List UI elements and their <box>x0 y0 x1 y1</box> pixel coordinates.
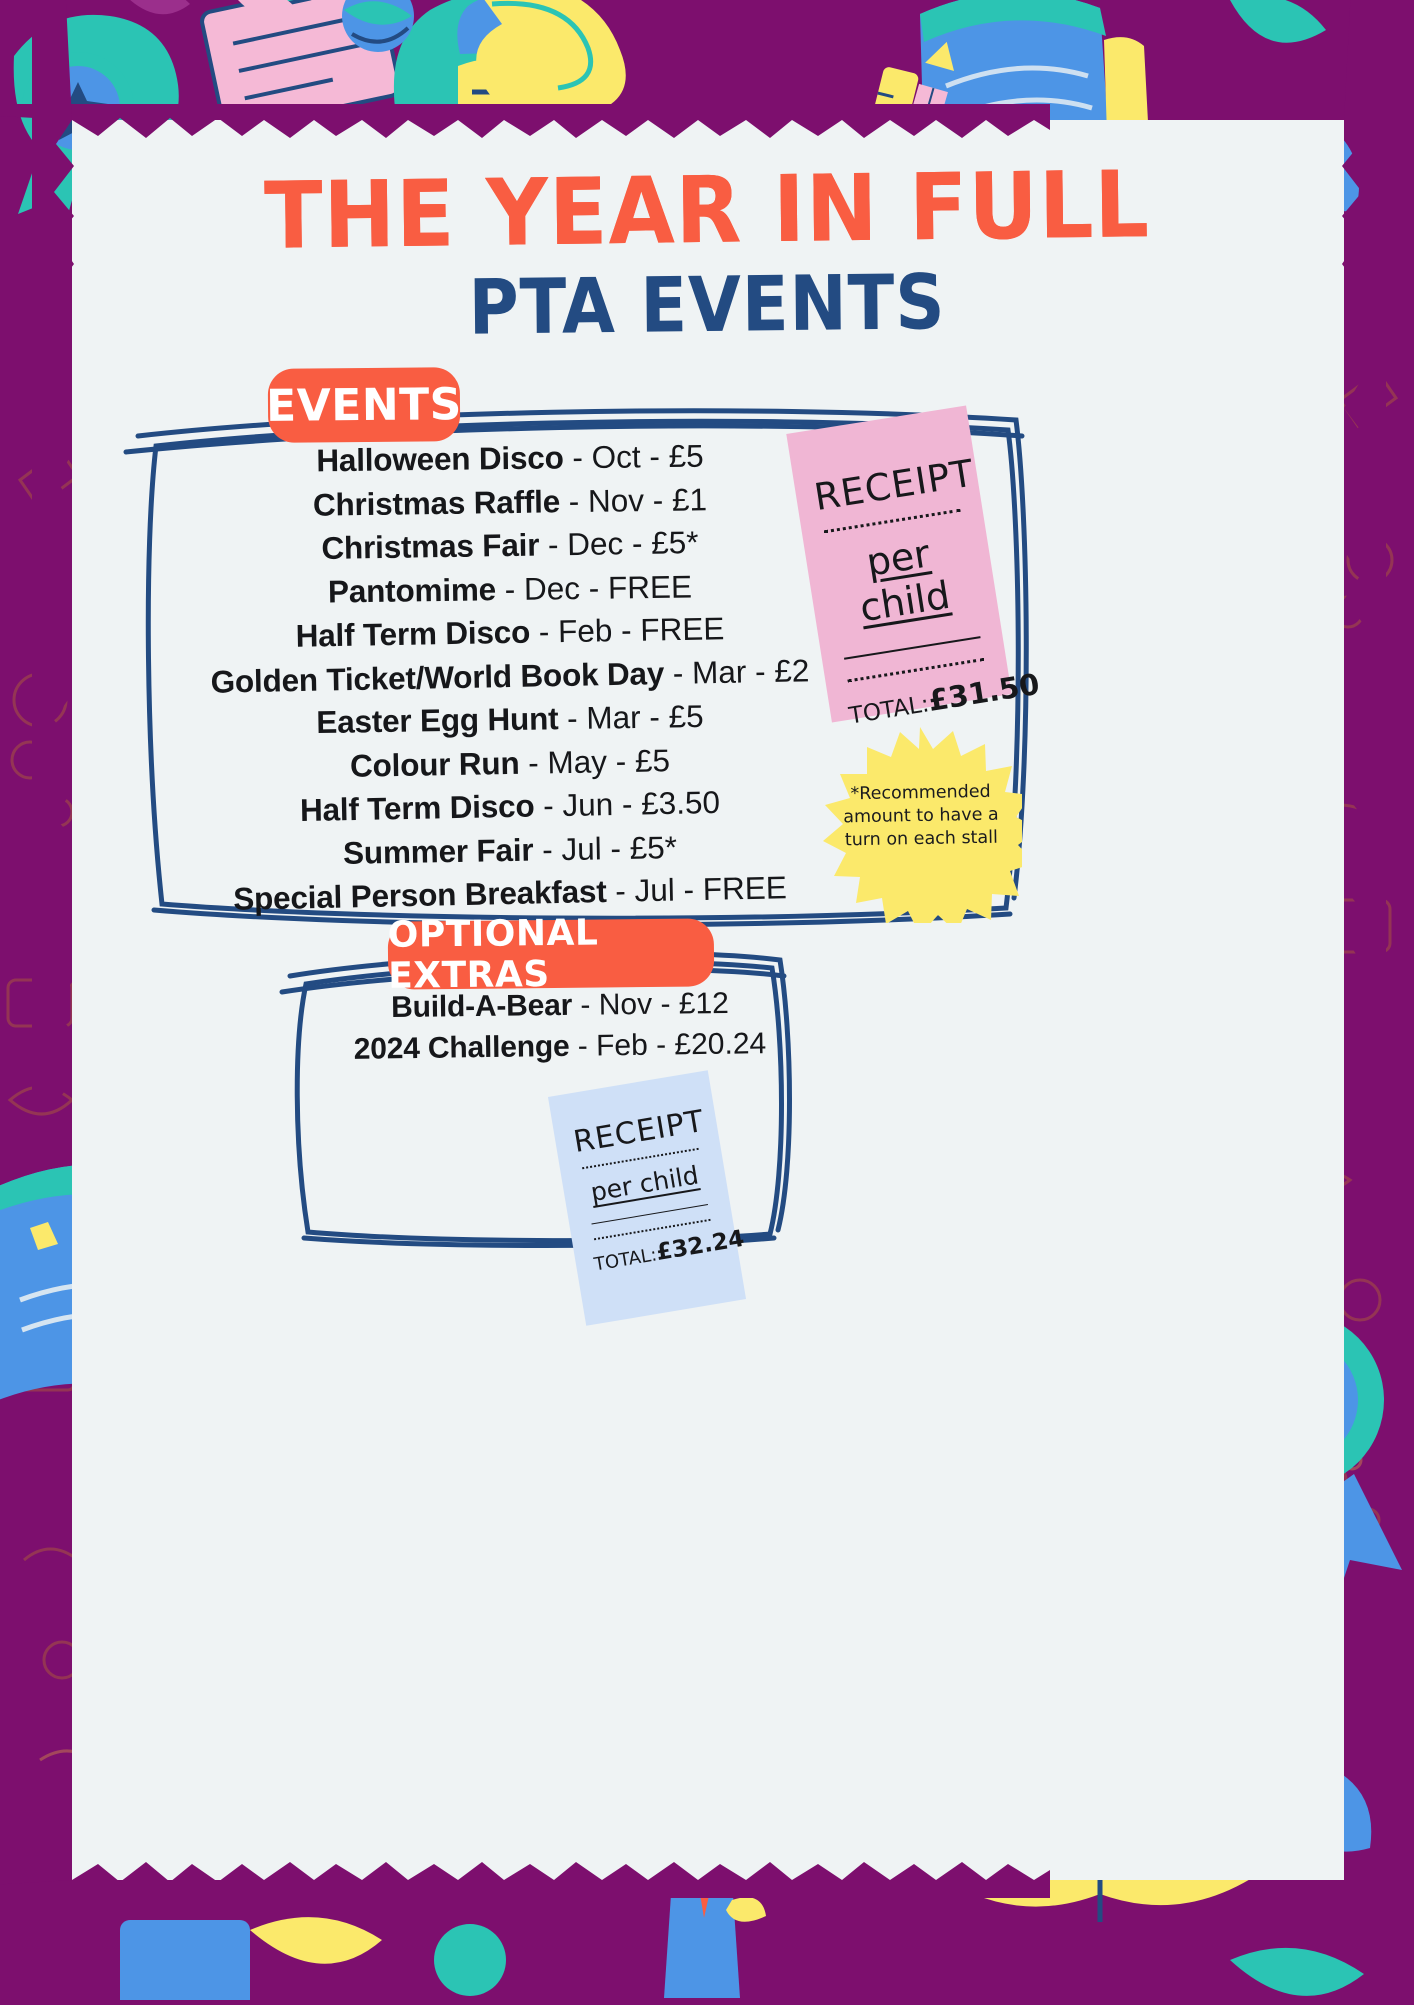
event-detail: - Feb - FREE <box>530 610 725 649</box>
event-name: Special Person Breakfast <box>233 873 607 917</box>
event-detail: - Nov - £1 <box>560 481 708 519</box>
receipt-total-label: TOTAL: <box>593 1244 659 1275</box>
event-name: Pantomime <box>328 571 496 609</box>
event-name: Easter Egg Hunt <box>316 700 559 740</box>
event-detail: - Oct - £5 <box>563 438 703 476</box>
event-detail: - Jul - £5* <box>533 829 677 868</box>
receipt-solid-divider <box>844 636 981 660</box>
extra-detail: - Feb - £20.24 <box>569 1027 766 1063</box>
receipt-total-value: £32.24 <box>654 1226 746 1266</box>
event-name: Christmas Raffle <box>313 483 561 522</box>
event-detail: - Jul - FREE <box>606 869 787 909</box>
receipt-per-child-label: per child <box>823 525 981 635</box>
page-subtitle: PTA EVENTS <box>70 260 1343 351</box>
event-detail: - Dec - FREE <box>496 568 692 607</box>
poster-heading: THE YEAR IN FULL PTA EVENTS <box>0 165 1414 343</box>
page-title: THE YEAR IN FULL <box>49 156 1365 265</box>
block-doodle <box>120 1920 250 2000</box>
starburst-note: *Recommended amount to have a turn on ea… <box>839 781 1002 853</box>
event-detail: - Mar - £2 <box>664 652 810 691</box>
event-detail: - Dec - £5* <box>539 524 699 562</box>
event-name: Half Term Disco <box>300 788 535 828</box>
events-list: Halloween Disco - Oct - £5 Christmas Raf… <box>100 437 920 916</box>
list-item: 2024 Challenge - Feb - £20.24 <box>250 1022 871 1072</box>
event-detail: - Mar - £5 <box>558 698 704 736</box>
event-name: Summer Fair <box>343 831 534 870</box>
circle-doodle <box>434 1924 506 1996</box>
event-name: Colour Run <box>350 744 520 783</box>
event-detail: - May - £5 <box>519 742 670 781</box>
extras-badge: OPTIONAL EXTRAS <box>388 918 715 989</box>
extras-list: Build-A-Bear - Nov - £12 2024 Challenge … <box>250 985 870 1067</box>
events-badge: EVENTS <box>268 367 461 443</box>
event-name: Half Term Disco <box>295 614 530 654</box>
event-detail: - Jun - £3.50 <box>534 784 720 824</box>
extra-name: 2024 Challenge <box>354 1030 570 1066</box>
event-name: Golden Ticket/World Book Day <box>210 655 664 700</box>
receipt-title: RECEIPT <box>811 454 962 519</box>
event-name: Halloween Disco <box>316 439 564 478</box>
event-name: Christmas Fair <box>321 527 539 566</box>
